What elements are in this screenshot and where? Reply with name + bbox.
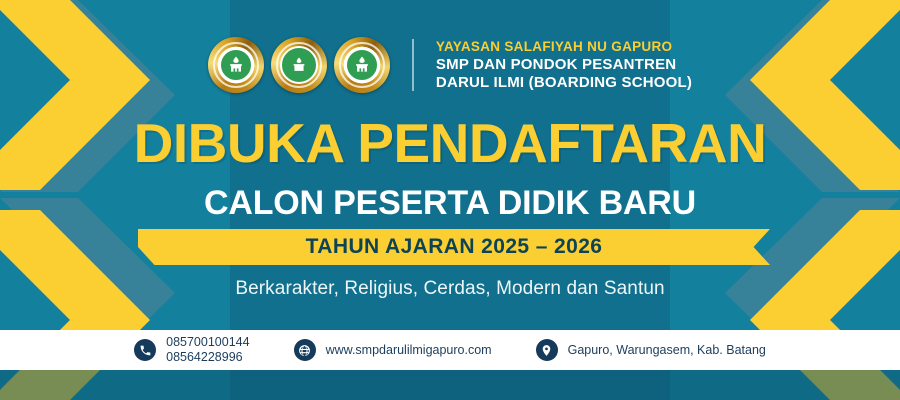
- header-divider: [412, 39, 414, 91]
- contact-website[interactable]: www.smpdarulilmigapuro.com: [294, 339, 492, 361]
- academic-year-text: TAHUN AJARAN 2025 – 2026: [138, 229, 770, 265]
- location-pin-icon: [536, 339, 558, 361]
- website-url[interactable]: www.smpdarulilmigapuro.com: [326, 343, 492, 358]
- academic-year-ribbon: TAHUN AJARAN 2025 – 2026: [138, 229, 770, 265]
- logo-group: [208, 37, 390, 93]
- school-name-line-2: DARUL ILMI (BOARDING SCHOOL): [436, 74, 692, 91]
- mosque-glyph-icon: [226, 55, 246, 75]
- globe-icon: [294, 339, 316, 361]
- foundation-name: YAYASAN SALAFIYAH NU GAPURO: [436, 39, 692, 55]
- header-row: YAYASAN SALAFIYAH NU GAPURO SMP DAN POND…: [0, 30, 900, 100]
- mosque-glyph-icon: [289, 55, 309, 75]
- contact-bar: 085700100144 08564228996 www.smpdarulilm…: [0, 330, 900, 370]
- organization-name: YAYASAN SALAFIYAH NU GAPURO SMP DAN POND…: [436, 39, 692, 91]
- phone-numbers: 085700100144 08564228996: [166, 335, 249, 365]
- subheadline: CALON PESERTA DIDIK BARU: [0, 186, 900, 220]
- phone-icon: [134, 339, 156, 361]
- mosque-glyph-icon: [352, 55, 372, 75]
- promo-banner: YAYASAN SALAFIYAH NU GAPURO SMP DAN POND…: [0, 0, 900, 400]
- contact-address: Gapuro, Warungasem, Kab. Batang: [536, 339, 766, 361]
- yayasan-emblem-3-icon: [334, 37, 390, 93]
- yayasan-emblem-2-icon: [271, 37, 327, 93]
- contact-phone: 085700100144 08564228996: [134, 335, 249, 365]
- school-name-line-1: SMP DAN PONDOK PESANTREN: [436, 56, 692, 73]
- phone-number-1: 085700100144: [166, 335, 249, 350]
- yayasan-emblem-1-icon: [208, 37, 264, 93]
- address-text: Gapuro, Warungasem, Kab. Batang: [568, 343, 766, 358]
- headline: DIBUKA PENDAFTARAN: [0, 116, 900, 171]
- tagline: Berkarakter, Religius, Cerdas, Modern da…: [0, 278, 900, 300]
- phone-number-2: 08564228996: [166, 350, 249, 365]
